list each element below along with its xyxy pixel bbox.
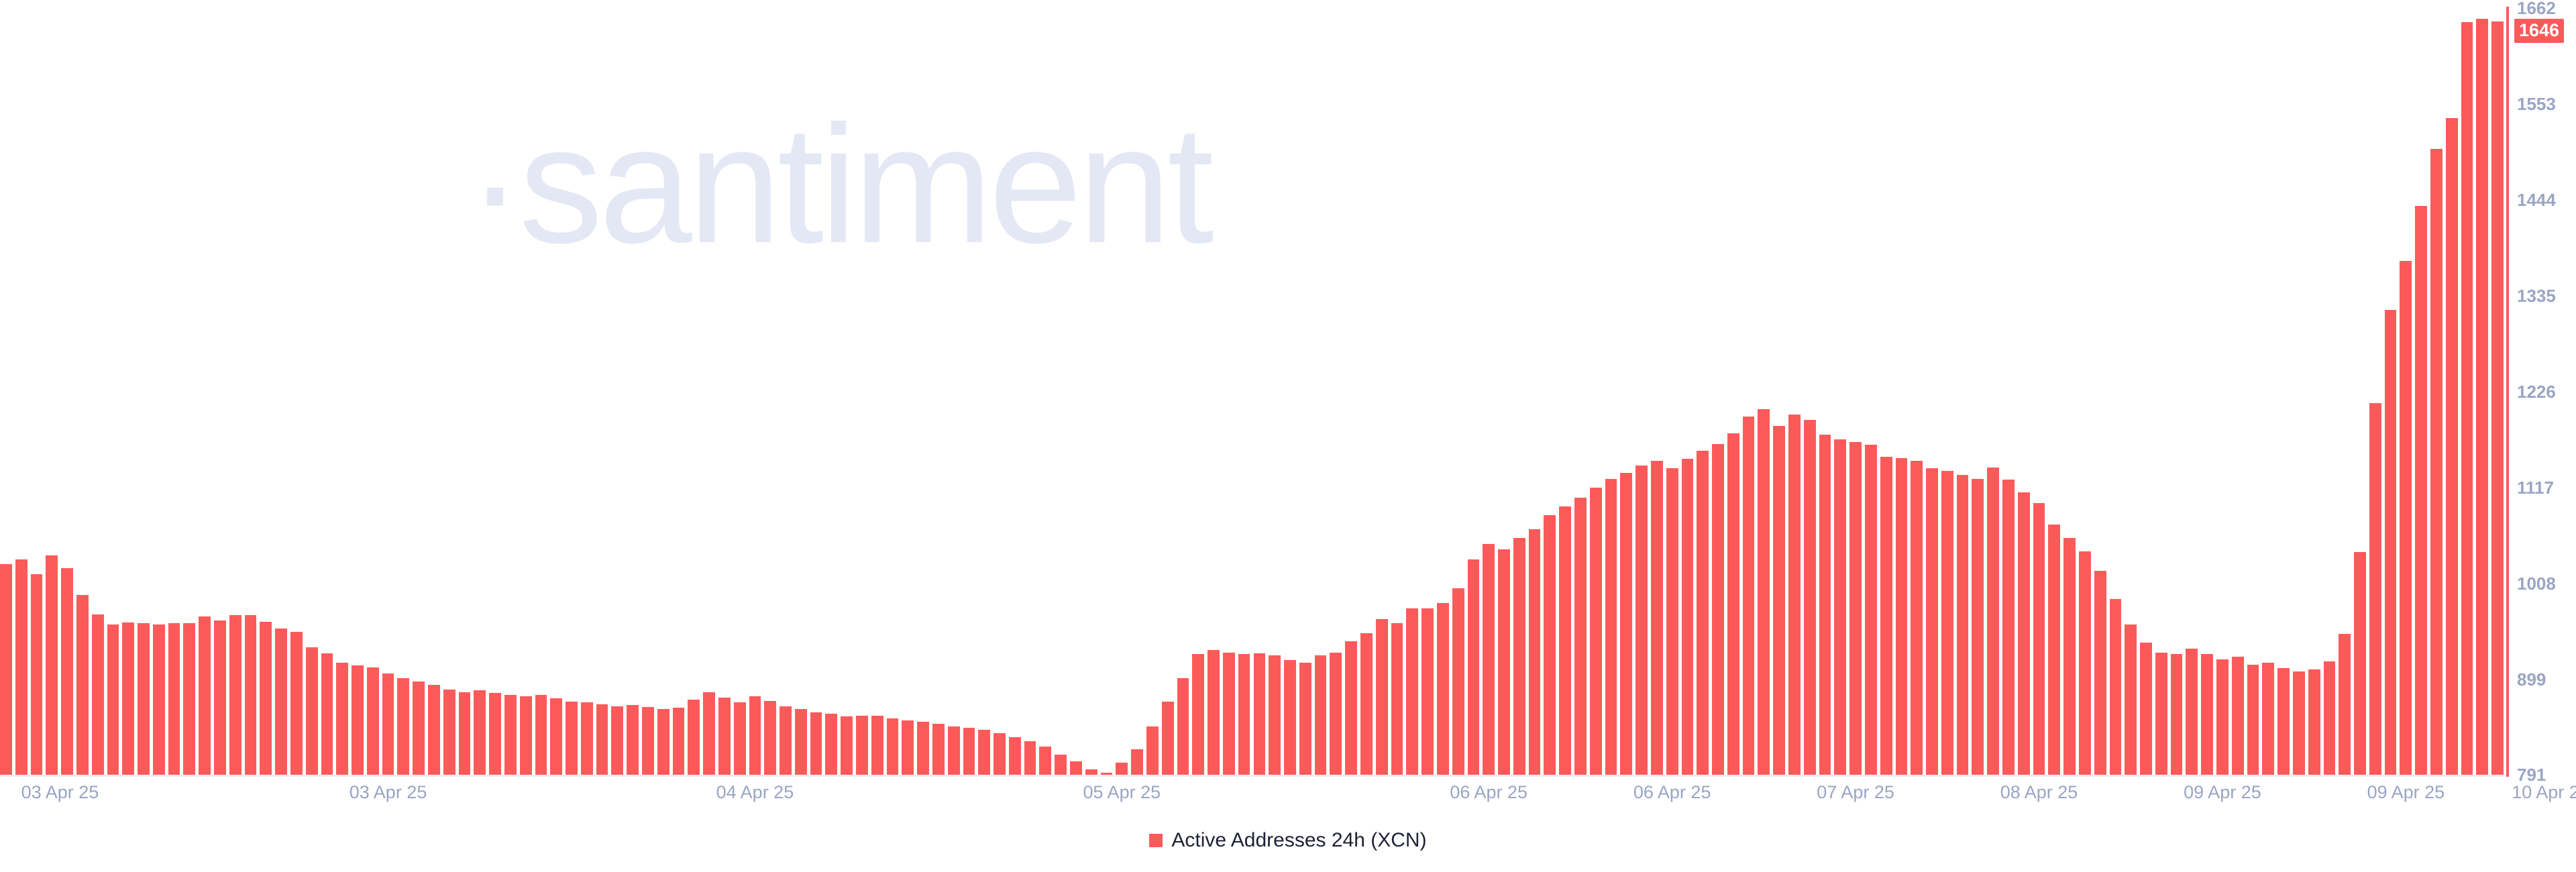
bar[interactable] xyxy=(1788,415,1801,775)
bar[interactable] xyxy=(489,693,501,775)
bar[interactable] xyxy=(352,665,364,775)
bar[interactable] xyxy=(1146,726,1159,775)
bar[interactable] xyxy=(871,716,883,775)
bar[interactable] xyxy=(1024,741,1036,775)
bar[interactable] xyxy=(902,720,914,775)
bar[interactable] xyxy=(841,716,853,775)
bar[interactable] xyxy=(1315,655,1327,775)
bar[interactable] xyxy=(1529,529,1541,775)
bar[interactable] xyxy=(2247,665,2259,775)
x-axis-tick-label: 09 Apr 25 xyxy=(2184,783,2261,802)
bar-series-active-addresses[interactable] xyxy=(0,0,2507,775)
bar[interactable] xyxy=(1682,459,1694,775)
bar[interactable] xyxy=(1345,641,1357,775)
bar[interactable] xyxy=(917,722,929,775)
bar[interactable] xyxy=(1437,603,1449,775)
bar[interactable] xyxy=(1269,655,1281,775)
x-axis-tick-label: 04 Apr 25 xyxy=(716,783,794,802)
legend-item-label: Active Addresses 24h (XCN) xyxy=(1171,830,1426,851)
bar[interactable] xyxy=(764,701,776,775)
bar[interactable] xyxy=(1651,461,1663,775)
bar[interactable] xyxy=(550,698,562,775)
bar[interactable] xyxy=(932,724,945,775)
bar[interactable] xyxy=(229,615,241,775)
bar[interactable] xyxy=(1483,544,1495,775)
bar[interactable] xyxy=(199,616,211,775)
bar[interactable] xyxy=(673,708,685,775)
bar[interactable] xyxy=(275,629,287,775)
plot-area xyxy=(0,0,2507,775)
bar[interactable] xyxy=(1131,749,1143,775)
bar[interactable] xyxy=(2125,624,2137,775)
bar[interactable] xyxy=(260,622,272,775)
bar[interactable] xyxy=(107,624,119,775)
bar[interactable] xyxy=(122,622,134,775)
bar[interactable] xyxy=(1666,468,1678,775)
bar[interactable] xyxy=(290,632,303,775)
bar[interactable] xyxy=(1223,653,1235,775)
y-axis-tick-label: 1226 xyxy=(2517,383,2556,400)
bar[interactable] xyxy=(978,730,990,775)
bar[interactable] xyxy=(321,653,333,775)
bar[interactable] xyxy=(76,595,89,775)
bar[interactable] xyxy=(2369,403,2381,775)
bar[interactable] xyxy=(2324,661,2336,775)
bar[interactable] xyxy=(1865,445,1877,775)
y-axis-tick-label: 1662 xyxy=(2517,0,2556,17)
bar[interactable] xyxy=(2491,21,2504,775)
bar[interactable] xyxy=(2354,552,2366,775)
x-axis-tick-label: 03 Apr 25 xyxy=(21,783,99,802)
bar[interactable] xyxy=(1376,619,1388,775)
x-axis-tick-label: 07 Apr 25 xyxy=(1817,783,1894,802)
bar[interactable] xyxy=(428,685,440,775)
y-axis-tick-label: 791 xyxy=(2517,766,2546,783)
bar[interactable] xyxy=(336,663,348,775)
bar[interactable] xyxy=(1834,439,1846,775)
bar[interactable] xyxy=(2063,538,2076,775)
bar[interactable] xyxy=(718,698,731,775)
bar[interactable] xyxy=(31,574,43,775)
bar[interactable] xyxy=(1299,663,1311,775)
bar[interactable] xyxy=(1162,702,1174,775)
bar[interactable] xyxy=(1880,457,1892,775)
bar[interactable] xyxy=(443,690,455,775)
bar[interactable] xyxy=(1207,650,1220,775)
bar[interactable] xyxy=(1177,678,1189,775)
y-axis-tick-label: 1117 xyxy=(2517,479,2554,496)
bar[interactable] xyxy=(2171,654,2183,775)
bar[interactable] xyxy=(596,704,608,775)
bar[interactable] xyxy=(2216,659,2229,775)
bar[interactable] xyxy=(413,682,425,775)
bar[interactable] xyxy=(2186,649,2198,775)
bar[interactable] xyxy=(2385,310,2397,775)
y-axis-tick-label: 899 xyxy=(2517,671,2546,688)
bar[interactable] xyxy=(1849,442,1862,775)
bar[interactable] xyxy=(2094,571,2106,775)
bar[interactable] xyxy=(627,705,639,775)
bar[interactable] xyxy=(2476,19,2488,775)
bar[interactable] xyxy=(856,716,868,775)
bar[interactable] xyxy=(1406,608,1418,775)
bar[interactable] xyxy=(504,695,517,775)
bar[interactable] xyxy=(1559,506,1571,775)
bar[interactable] xyxy=(887,718,899,775)
bar[interactable] xyxy=(153,624,165,775)
x-axis-tick-label: 03 Apr 25 xyxy=(350,783,427,802)
bar[interactable] xyxy=(2430,149,2443,775)
bar[interactable] xyxy=(245,615,257,775)
bar[interactable] xyxy=(2308,669,2320,775)
legend-color-swatch xyxy=(1149,834,1163,847)
bar[interactable] xyxy=(1238,654,1250,775)
y-axis-current-value-badge: 1646 xyxy=(2514,19,2564,43)
y-axis-tick-label: 1553 xyxy=(2517,95,2556,113)
bar[interactable] xyxy=(1284,660,1296,775)
x-axis-line xyxy=(0,775,2507,777)
bar[interactable] xyxy=(1055,755,1067,775)
bar[interactable] xyxy=(1926,468,1938,775)
bar[interactable] xyxy=(1972,479,1984,775)
bar[interactable] xyxy=(825,714,837,775)
bar[interactable] xyxy=(1468,559,1480,775)
x-axis-tick-label: 06 Apr 25 xyxy=(1450,783,1527,802)
bar[interactable] xyxy=(2110,599,2122,775)
bar[interactable] xyxy=(306,647,318,775)
bar[interactable] xyxy=(963,728,975,775)
bar[interactable] xyxy=(1498,549,1510,775)
bar[interactable] xyxy=(2262,663,2274,775)
bar[interactable] xyxy=(688,700,700,775)
bar[interactable] xyxy=(657,709,669,775)
bar[interactable] xyxy=(61,568,73,775)
x-axis-tick-label: 05 Apr 25 xyxy=(1083,783,1161,802)
bar[interactable] xyxy=(1743,417,1755,775)
bar[interactable] xyxy=(2339,634,2351,775)
bar[interactable] xyxy=(1987,468,1999,775)
bar[interactable] xyxy=(1605,479,1617,775)
y-axis-tick-label: 1335 xyxy=(2517,287,2556,305)
bar[interactable] xyxy=(948,726,960,775)
bar[interactable] xyxy=(1727,433,1739,775)
bar[interactable] xyxy=(1254,653,1266,775)
bar[interactable] xyxy=(611,706,623,775)
bar[interactable] xyxy=(2033,503,2045,775)
bar[interactable] xyxy=(382,673,394,775)
bar[interactable] xyxy=(703,692,715,775)
bar[interactable] xyxy=(581,702,593,775)
y-axis-tick-label: 1008 xyxy=(2517,575,2556,592)
bar[interactable] xyxy=(1116,763,1128,775)
bar[interactable] xyxy=(1712,444,1724,775)
x-axis-tick-label: 10 Apr 25 xyxy=(2512,783,2576,802)
bar[interactable] xyxy=(2400,261,2412,775)
chart-legend: Active Addresses 24h (XCN) xyxy=(0,830,2576,851)
bar[interactable] xyxy=(994,733,1006,775)
bar[interactable] xyxy=(1697,451,1709,775)
bar[interactable] xyxy=(1330,653,1342,775)
x-axis-tick-label: 08 Apr 25 xyxy=(2000,783,2078,802)
bar[interactable] xyxy=(2048,525,2060,775)
bar[interactable] xyxy=(2277,668,2290,775)
bar[interactable] xyxy=(1544,515,1556,775)
bar[interactable] xyxy=(1896,458,1908,775)
bar[interactable] xyxy=(459,692,471,775)
bar[interactable] xyxy=(1452,588,1464,775)
bar[interactable] xyxy=(2155,653,2167,775)
bar[interactable] xyxy=(1574,498,1587,775)
bar[interactable] xyxy=(92,614,104,775)
bar[interactable] xyxy=(810,712,822,775)
x-axis-tick-label: 06 Apr 25 xyxy=(1633,783,1711,802)
bar[interactable] xyxy=(168,623,180,775)
bar[interactable] xyxy=(367,667,379,775)
chart-root: ·santiment 16621553144413351226111710088… xyxy=(0,0,2576,872)
bar[interactable] xyxy=(1635,466,1648,775)
bar[interactable] xyxy=(1758,409,1770,775)
bar[interactable] xyxy=(2461,22,2473,775)
bar[interactable] xyxy=(1360,633,1373,775)
bar[interactable] xyxy=(1620,473,1632,775)
bar[interactable] xyxy=(1513,538,1525,775)
bar[interactable] xyxy=(795,709,807,775)
bar[interactable] xyxy=(535,695,547,775)
bar[interactable] xyxy=(183,623,195,775)
bar[interactable] xyxy=(734,702,746,775)
bar[interactable] xyxy=(474,690,486,775)
bar[interactable] xyxy=(2018,492,2030,775)
bar[interactable] xyxy=(2415,206,2427,775)
bar[interactable] xyxy=(2002,480,2015,775)
bar[interactable] xyxy=(1911,461,1923,775)
bar[interactable] xyxy=(1957,475,1969,775)
bar[interactable] xyxy=(1773,426,1785,775)
bar[interactable] xyxy=(15,559,28,775)
y-axis-tick-label: 1444 xyxy=(2517,191,2556,209)
bar[interactable] xyxy=(2079,551,2091,775)
bar[interactable] xyxy=(749,696,761,775)
bar[interactable] xyxy=(2293,671,2305,775)
bar[interactable] xyxy=(1804,420,1816,775)
bar[interactable] xyxy=(1590,488,1602,775)
bar[interactable] xyxy=(1009,737,1021,775)
legend-item-active-addresses[interactable]: Active Addresses 24h (XCN) xyxy=(1149,830,1426,851)
bar[interactable] xyxy=(214,620,226,775)
bar[interactable] xyxy=(2232,657,2244,775)
bar[interactable] xyxy=(2140,643,2152,775)
bar[interactable] xyxy=(2201,654,2213,775)
y-axis-line xyxy=(2506,7,2509,777)
bar[interactable] xyxy=(1391,623,1403,775)
bar[interactable] xyxy=(566,702,578,775)
bar[interactable] xyxy=(1070,761,1082,775)
bar[interactable] xyxy=(1192,654,1204,775)
bar[interactable] xyxy=(0,564,12,775)
bar[interactable] xyxy=(46,555,58,775)
bar[interactable] xyxy=(138,623,150,775)
bar[interactable] xyxy=(2446,118,2458,775)
bar[interactable] xyxy=(1421,608,1434,775)
bar[interactable] xyxy=(642,707,654,775)
bar[interactable] xyxy=(1085,769,1097,775)
x-axis-tick-label: 09 Apr 25 xyxy=(2367,783,2445,802)
bar[interactable] xyxy=(780,706,792,775)
bar[interactable] xyxy=(1941,471,1953,775)
bar[interactable] xyxy=(520,696,532,775)
bar[interactable] xyxy=(397,678,409,775)
bar[interactable] xyxy=(1819,435,1831,775)
bar[interactable] xyxy=(1039,747,1051,775)
